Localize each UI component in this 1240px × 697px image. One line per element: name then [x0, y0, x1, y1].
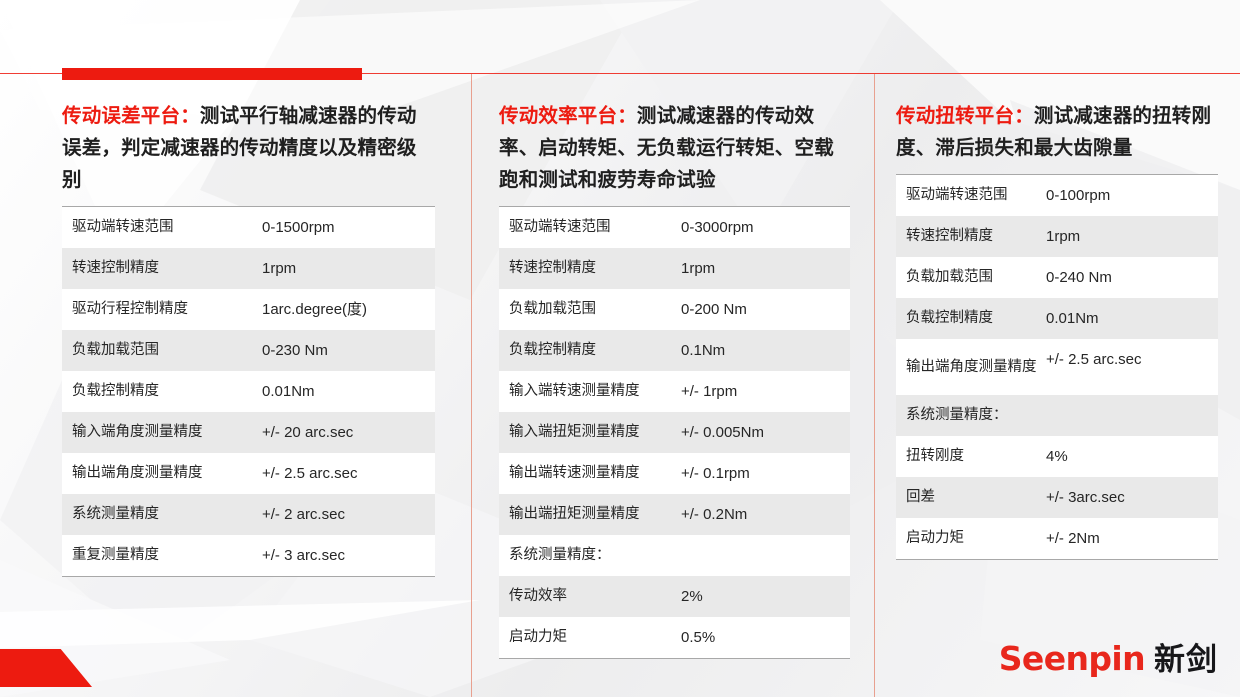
column-1-title-highlight: 传动误差平台：: [62, 105, 200, 127]
spec-key: 驱动端转速范围: [499, 213, 681, 242]
spec-key: 重复测量精度: [62, 541, 262, 570]
table-row: 转速控制精度 1rpm: [896, 216, 1218, 257]
table-row: 输入端角度测量精度 +/- 20 arc.sec: [62, 412, 435, 453]
spec-value: 2%: [681, 582, 850, 611]
column-1-title: 传动误差平台：测试平行轴减速器的传动误差，判定减速器的传动精度以及精密级别: [62, 100, 435, 196]
brand-logo: Seenpin 新剑: [999, 634, 1218, 679]
column-2-title: 传动效率平台：测试减速器的传动效率、启动转矩、无负载运行转矩、空载跑和测试和疲劳…: [499, 100, 850, 196]
table-row: 回差 +/- 3arc.sec: [896, 477, 1218, 518]
table-row: 系统测量精度 +/- 2 arc.sec: [62, 494, 435, 535]
spec-key: 转速控制精度: [896, 222, 1046, 251]
table-row: 重复测量精度 +/- 3 arc.sec: [62, 535, 435, 576]
table-row: 负载加载范围 0-200 Nm: [499, 289, 850, 330]
table-row: 系统测量精度：: [499, 535, 850, 576]
logo-latin-text: Seenpin: [999, 639, 1145, 678]
platform-column-2: 传动效率平台：测试减速器的传动效率、启动转矩、无负载运行转矩、空载跑和测试和疲劳…: [471, 74, 874, 614]
spec-value: 1rpm: [681, 254, 850, 283]
columns-container: 传动误差平台：测试平行轴减速器的传动误差，判定减速器的传动精度以及精密级别 驱动…: [0, 74, 1240, 614]
table-row: 输出端转速测量精度 +/- 0.1rpm: [499, 453, 850, 494]
spec-value: +/- 2.5 arc.sec: [262, 459, 435, 488]
spec-value: 1arc.degree(度): [262, 295, 435, 324]
spec-key: 负载加载范围: [62, 336, 262, 365]
table-row: 驱动端转速范围 0-3000rpm: [499, 207, 850, 248]
spec-value: +/- 0.2Nm: [681, 500, 850, 529]
platform-column-3: 传动扭转平台：测试减速器的扭转刚度、滞后损失和最大齿隙量 驱动端转速范围 0-1…: [874, 74, 1240, 614]
spec-table-3: 驱动端转速范围 0-100rpm 转速控制精度 1rpm 负载加载范围 0-24…: [896, 174, 1218, 560]
spec-value: 0-100rpm: [1046, 181, 1218, 210]
spec-value: 0.01Nm: [262, 377, 435, 406]
spec-key: 输出端角度测量精度: [896, 353, 1046, 382]
spec-value: 1rpm: [1046, 222, 1218, 251]
table-row: 输出端角度测量精度 +/- 2.5 arc.sec: [62, 453, 435, 494]
spec-value: 4%: [1046, 442, 1218, 471]
spec-value: 1rpm: [262, 254, 435, 283]
corner-accent-shape: [0, 649, 92, 687]
table-row: 转速控制精度 1rpm: [499, 248, 850, 289]
table-row: 扭转刚度 4%: [896, 436, 1218, 477]
table-row: 驱动行程控制精度 1arc.degree(度): [62, 289, 435, 330]
spec-value: 0.5%: [681, 623, 850, 652]
spec-key: 输出端转速测量精度: [499, 459, 681, 488]
column-3-title-highlight: 传动扭转平台：: [896, 105, 1034, 127]
spec-key: 输入端转速测量精度: [499, 377, 681, 406]
spec-key: 负载加载范围: [499, 295, 681, 324]
spec-value: 0-3000rpm: [681, 213, 850, 242]
spec-value: 0-200 Nm: [681, 295, 850, 324]
table-row: 驱动端转速范围 0-100rpm: [896, 175, 1218, 216]
column-2-title-highlight: 传动效率平台：: [499, 105, 637, 127]
spec-value: +/- 3 arc.sec: [262, 541, 435, 570]
spec-key: 转速控制精度: [499, 254, 681, 283]
spec-key: 启动力矩: [896, 524, 1046, 553]
spec-value: [681, 551, 850, 561]
spec-value: 0.01Nm: [1046, 304, 1218, 333]
spec-value: +/- 20 arc.sec: [262, 418, 435, 447]
spec-key: 传动效率: [499, 582, 681, 611]
spec-key: 系统测量精度: [62, 500, 262, 529]
spec-key: 驱动行程控制精度: [62, 295, 262, 324]
spec-key: 负载控制精度: [62, 377, 262, 406]
table-row: 负载控制精度 0.01Nm: [62, 371, 435, 412]
table-row: 启动力矩 +/- 2Nm: [896, 518, 1218, 559]
table-row: 启动力矩 0.5%: [499, 617, 850, 658]
table-row: 转速控制精度 1rpm: [62, 248, 435, 289]
logo-chinese-text: 新剑: [1154, 634, 1218, 679]
spec-value: 0-240 Nm: [1046, 263, 1218, 292]
spec-key: 驱动端转速范围: [896, 181, 1046, 210]
table-row: 输出端角度测量精度 +/- 2.5 arc.sec: [896, 339, 1218, 395]
table-row: 负载控制精度 0.1Nm: [499, 330, 850, 371]
spec-key: 负载加载范围: [896, 263, 1046, 292]
spec-value: 0-1500rpm: [262, 213, 435, 242]
spec-key: 输入端扭矩测量精度: [499, 418, 681, 447]
table-row: 系统测量精度：: [896, 395, 1218, 436]
column-3-title: 传动扭转平台：测试减速器的扭转刚度、滞后损失和最大齿隙量: [896, 100, 1218, 164]
spec-key: 输入端角度测量精度: [62, 418, 262, 447]
spec-key: 输出端角度测量精度: [62, 459, 262, 488]
table-row: 驱动端转速范围 0-1500rpm: [62, 207, 435, 248]
spec-value: +/- 0.1rpm: [681, 459, 850, 488]
spec-value: +/- 3arc.sec: [1046, 483, 1218, 512]
spec-table-1: 驱动端转速范围 0-1500rpm 转速控制精度 1rpm 驱动行程控制精度 1…: [62, 206, 435, 577]
spec-key: 输出端扭矩测量精度: [499, 500, 681, 529]
spec-value: +/- 2.5 arc.sec: [1046, 339, 1218, 374]
spec-key: 回差: [896, 483, 1046, 512]
table-row: 传动效率 2%: [499, 576, 850, 617]
spec-value: 0-230 Nm: [262, 336, 435, 365]
spec-value: [1046, 411, 1218, 421]
table-row: 负载加载范围 0-230 Nm: [62, 330, 435, 371]
spec-key: 负载控制精度: [896, 304, 1046, 333]
table-row: 输入端转速测量精度 +/- 1rpm: [499, 371, 850, 412]
table-row: 输出端扭矩测量精度 +/- 0.2Nm: [499, 494, 850, 535]
platform-column-1: 传动误差平台：测试平行轴减速器的传动误差，判定减速器的传动精度以及精密级别 驱动…: [0, 74, 471, 614]
spec-key: 启动力矩: [499, 623, 681, 652]
spec-key: 驱动端转速范围: [62, 213, 262, 242]
spec-value: 0.1Nm: [681, 336, 850, 365]
table-row: 负载加载范围 0-240 Nm: [896, 257, 1218, 298]
slide-canvas: 传动误差平台：测试平行轴减速器的传动误差，判定减速器的传动精度以及精密级别 驱动…: [0, 0, 1240, 697]
spec-value: +/- 1rpm: [681, 377, 850, 406]
spec-value: +/- 2Nm: [1046, 524, 1218, 553]
spec-value: +/- 0.005Nm: [681, 418, 850, 447]
spec-table-2: 驱动端转速范围 0-3000rpm 转速控制精度 1rpm 负载加载范围 0-2…: [499, 206, 850, 659]
table-row: 输入端扭矩测量精度 +/- 0.005Nm: [499, 412, 850, 453]
table-row: 负载控制精度 0.01Nm: [896, 298, 1218, 339]
spec-key: 负载控制精度: [499, 336, 681, 365]
spec-value: +/- 2 arc.sec: [262, 500, 435, 529]
spec-key: 扭转刚度: [896, 442, 1046, 471]
spec-key: 系统测量精度：: [896, 401, 1046, 430]
spec-key: 系统测量精度：: [499, 541, 681, 570]
spec-key: 转速控制精度: [62, 254, 262, 283]
